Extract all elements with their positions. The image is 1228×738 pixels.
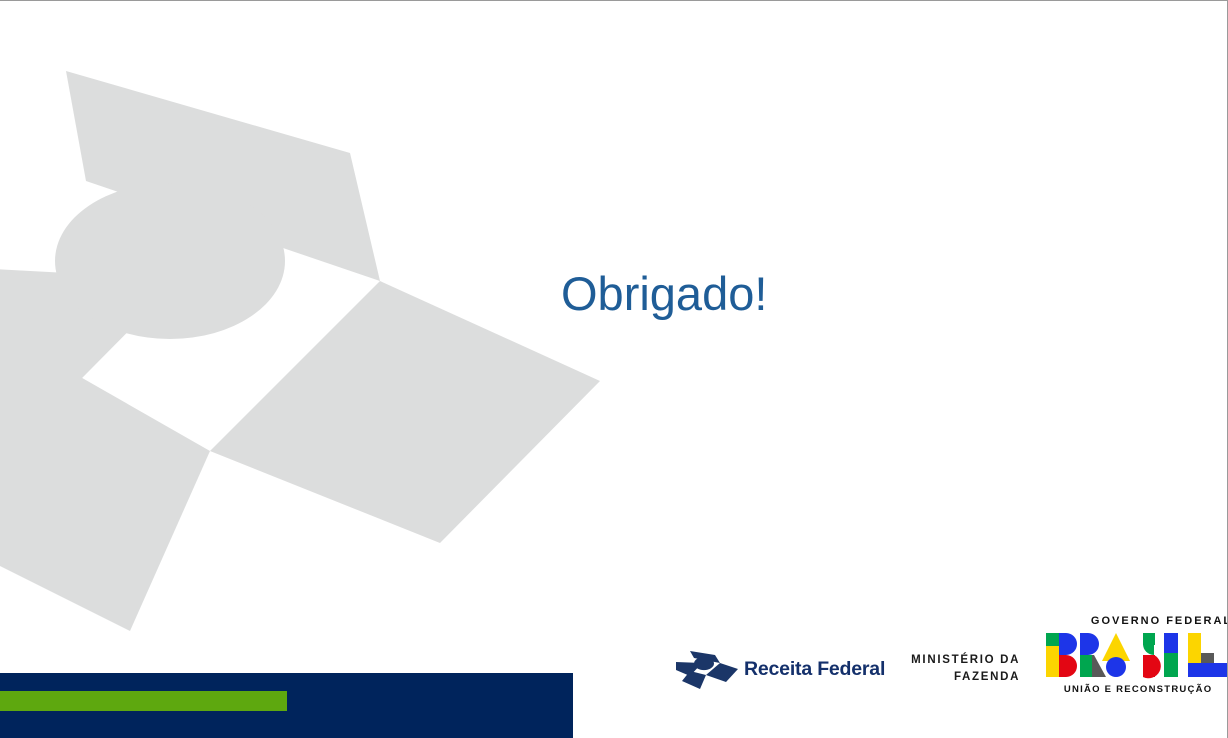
receita-federal-logo: Receita Federal [676, 649, 885, 689]
footer-logo-strip: Receita Federal MINISTÉRIO DA FAZENDA GO… [676, 609, 1206, 701]
brasil-wordmark-icon [1044, 631, 1228, 679]
receita-federal-wordmark: Receita Federal [744, 658, 885, 681]
footer-green-bar [0, 691, 287, 711]
presentation-slide: Obrigado! Receita Federal MINISTÉRIO DA … [0, 0, 1228, 738]
ministerio-line-1: MINISTÉRIO DA [911, 652, 1020, 669]
slide-title: Obrigado! [561, 267, 767, 321]
governo-federal-top-text: GOVERNO FEDERAL [1044, 615, 1228, 627]
receita-federal-emblem-icon [676, 649, 738, 689]
receita-federal-emblem-watermark-icon [0, 31, 600, 651]
ministerio-da-fazenda-logo: MINISTÉRIO DA FAZENDA [911, 652, 1020, 685]
governo-federal-logo: GOVERNO FEDERAL [1044, 615, 1228, 695]
governo-federal-bottom-text: UNIÃO E RECONSTRUÇÃO [1044, 684, 1228, 695]
ministerio-line-2: FAZENDA [911, 669, 1020, 686]
